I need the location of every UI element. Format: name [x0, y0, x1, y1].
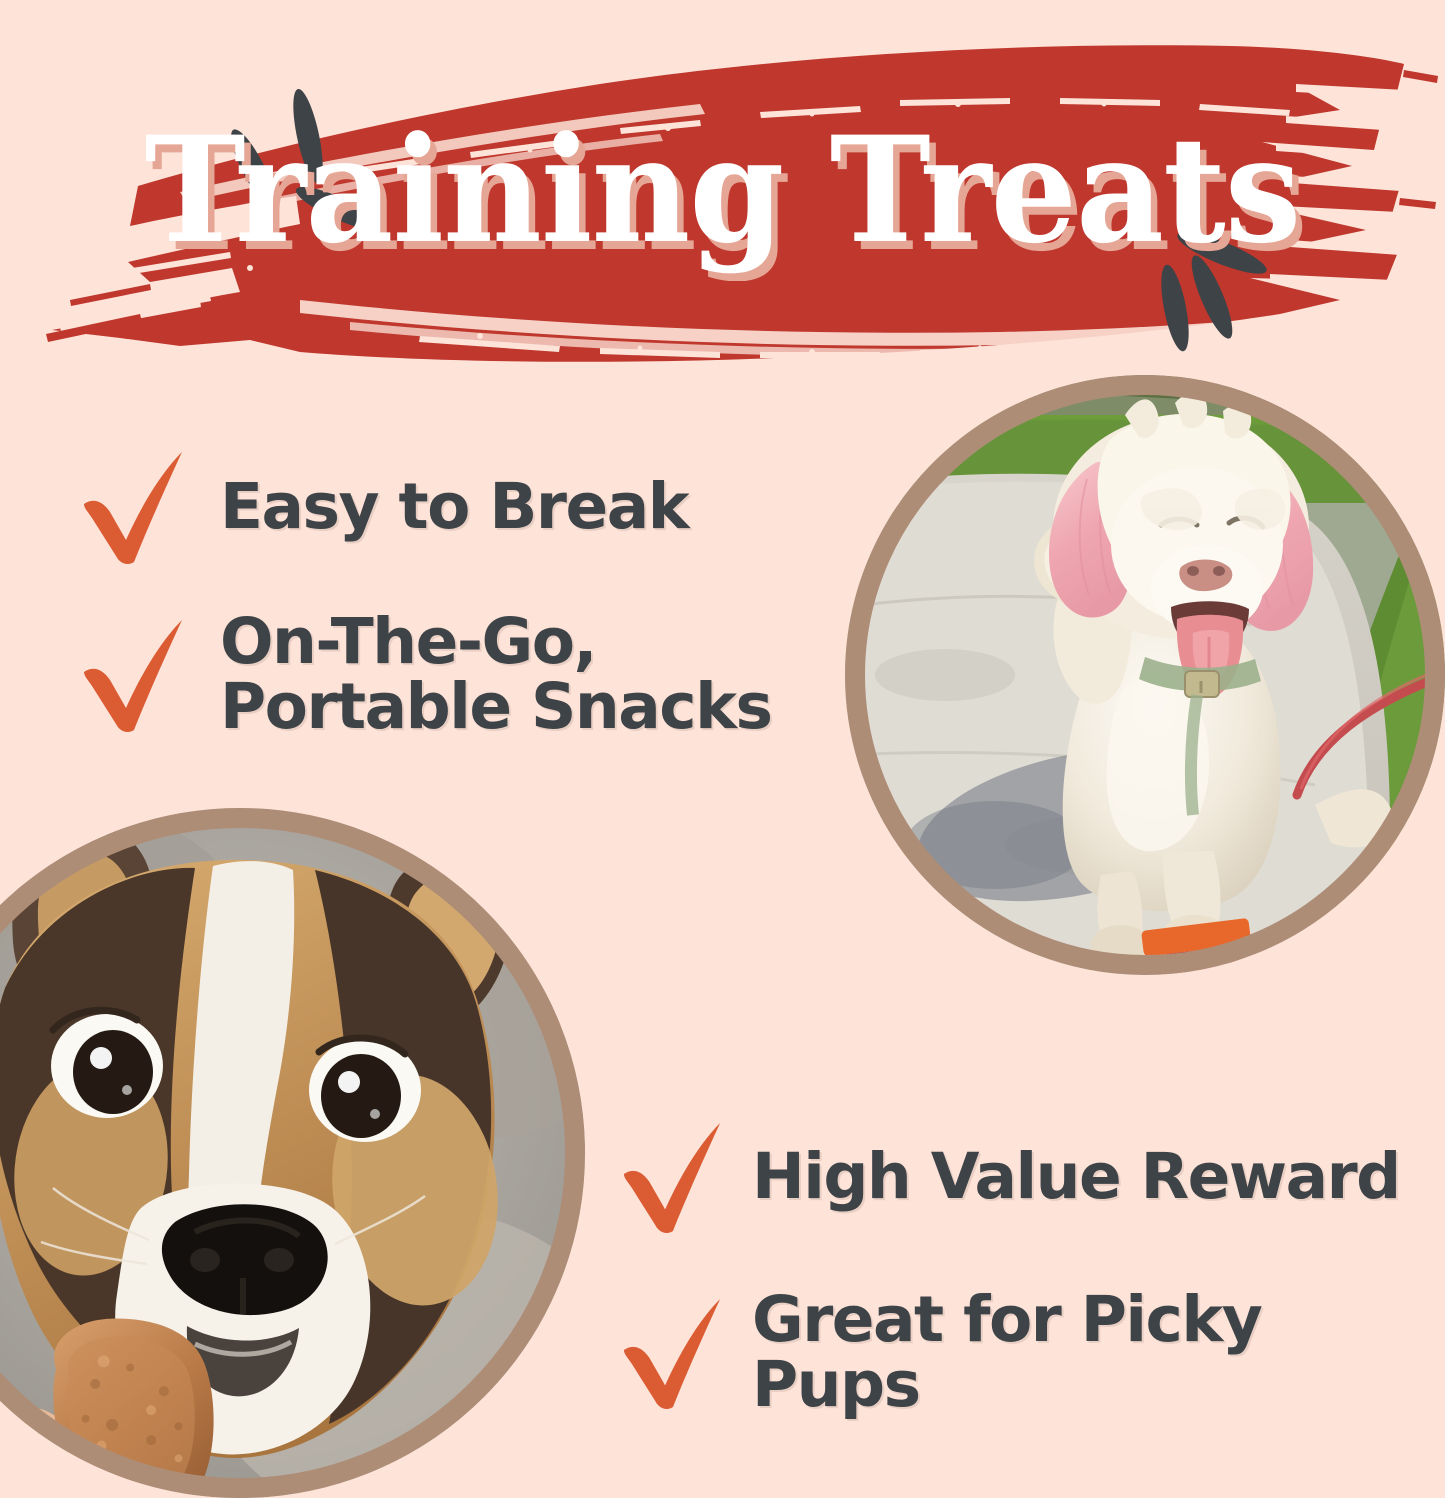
feature-label-line2: Portable Snacks [220, 675, 771, 740]
feature-easy-to-break: Easy to Break [78, 448, 688, 566]
poster-canvas: Training Treats [0, 0, 1445, 1445]
photo-dog-waving: FARM TO PET Turkey Chips FARM TO PET Bee… [845, 375, 1445, 975]
feature-label: Great for Picky Pups [752, 1283, 1261, 1421]
feature-on-the-go: On-The-Go, Portable Snacks [78, 610, 771, 740]
check-icon [78, 616, 188, 734]
check-icon [78, 448, 188, 566]
banner: Training Treats [0, 0, 1445, 400]
photo-puppy-treat [0, 808, 585, 1498]
check-icon [618, 1118, 726, 1236]
page-title: Training Treats [51, 118, 1395, 264]
feature-label: Easy to Break [220, 470, 688, 543]
spark-icon [1156, 263, 1194, 354]
feature-high-value: High Value Reward [618, 1118, 1400, 1236]
feature-label: High Value Reward [752, 1140, 1400, 1213]
feature-picky-pups: Great for Picky Pups [618, 1288, 1445, 1418]
feature-label: On-The-Go, [220, 610, 771, 675]
check-icon [618, 1294, 726, 1412]
